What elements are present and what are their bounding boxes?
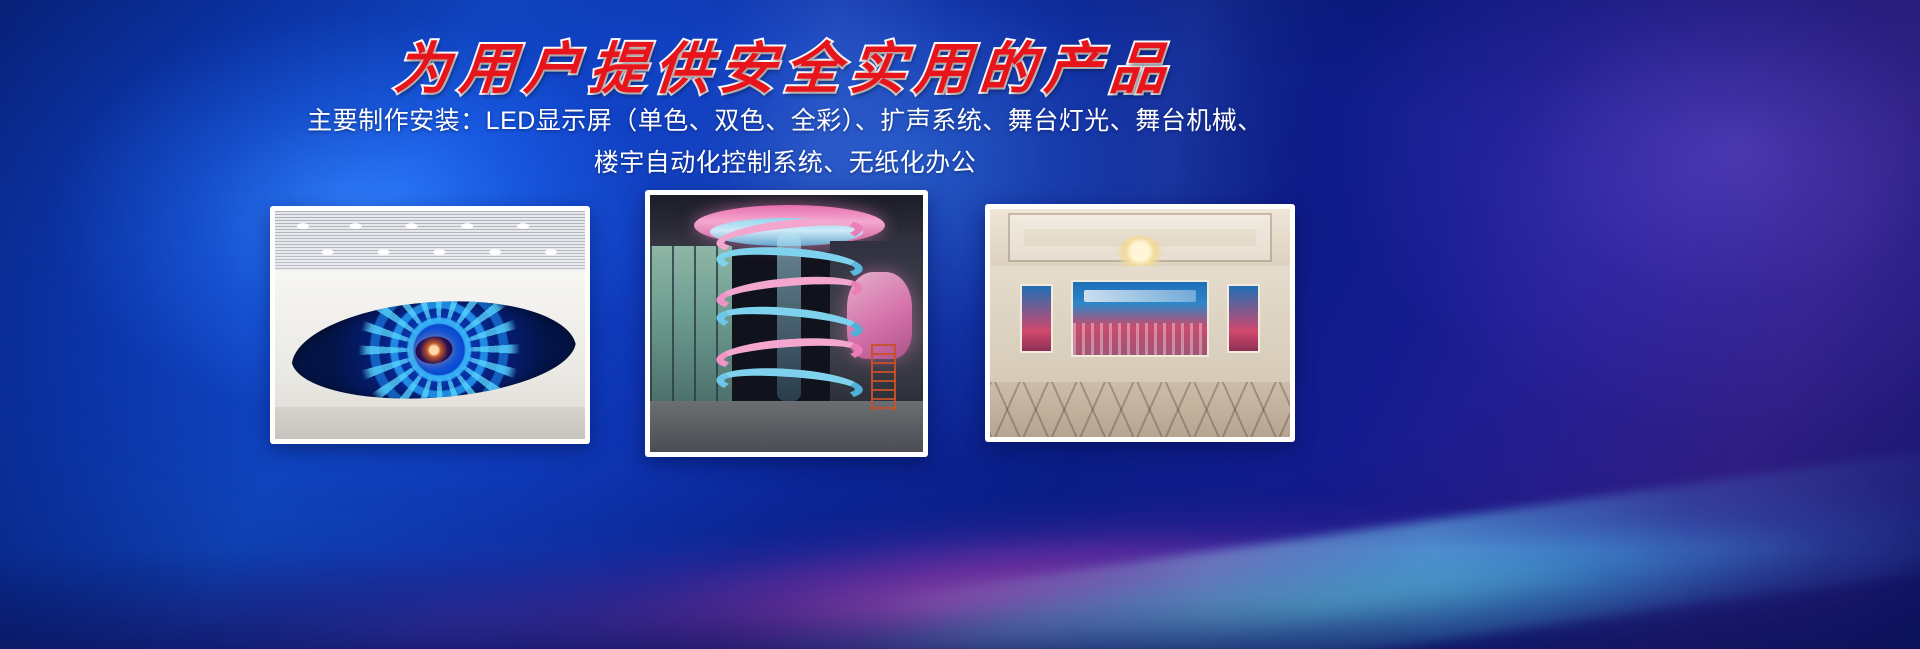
photo-card-eye-shaped-led-display[interactable] xyxy=(270,206,590,444)
helix-led-structure xyxy=(716,216,863,432)
spiral-led-display-image xyxy=(650,195,923,452)
photo-frame-inner xyxy=(650,195,923,452)
side-led-panel-right xyxy=(1227,284,1260,352)
ceiling-slats xyxy=(275,211,585,273)
project-photo-gallery xyxy=(0,0,1570,649)
photo-card-conference-hall-led-screen[interactable] xyxy=(985,204,1295,442)
step-ladder xyxy=(871,344,896,411)
photo-card-spiral-led-display[interactable] xyxy=(645,190,928,457)
eye-led-display-image xyxy=(275,211,585,439)
conference-hall-image xyxy=(990,209,1290,437)
led-pupil-graphic xyxy=(413,334,453,366)
banner-content: 为用户提供安全实用的产品 主要制作安装：LED显示屏（单色、双色、全彩）、扩声系… xyxy=(0,0,1920,649)
photo-frame-inner xyxy=(275,211,585,439)
side-led-panel-left xyxy=(1020,284,1053,352)
tiled-floor xyxy=(990,382,1290,437)
led-promo-banner: 为用户提供安全实用的产品 主要制作安装：LED显示屏（单色、双色、全彩）、扩声系… xyxy=(0,0,1920,649)
photo-frame-inner xyxy=(990,209,1290,437)
main-led-screen xyxy=(1071,280,1209,358)
floor xyxy=(275,407,585,439)
